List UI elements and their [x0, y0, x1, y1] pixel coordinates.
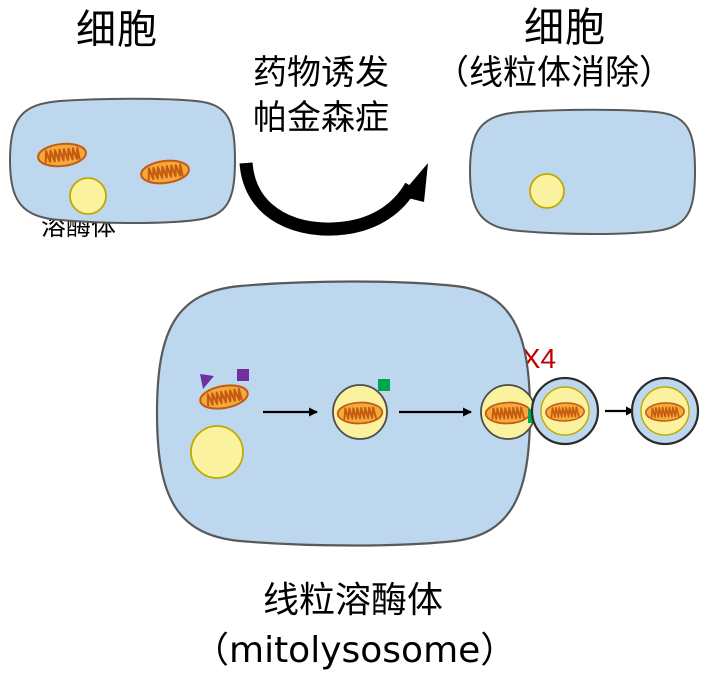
lysosome: [191, 426, 243, 478]
cell-membrane: [470, 110, 695, 234]
gbas-square-marker: [237, 369, 249, 381]
lysosome: [70, 178, 106, 214]
top-left-cell: [10, 99, 235, 223]
diagram-graphics: [0, 0, 710, 698]
vamp2-square-marker: [378, 379, 390, 391]
bottom-cell: [157, 282, 545, 546]
released-mitolysosome-1: [532, 378, 598, 444]
released-mitolysosome-2: [632, 378, 698, 444]
top-right-cell: [470, 110, 695, 234]
figure-canvas: 细胞 细胞 药物诱发 帕金森症 （线粒体消除） 线粒体 溶酶体 BAX GBAS…: [0, 0, 710, 698]
transition-arrow: [246, 163, 428, 229]
lysosome: [530, 174, 564, 208]
